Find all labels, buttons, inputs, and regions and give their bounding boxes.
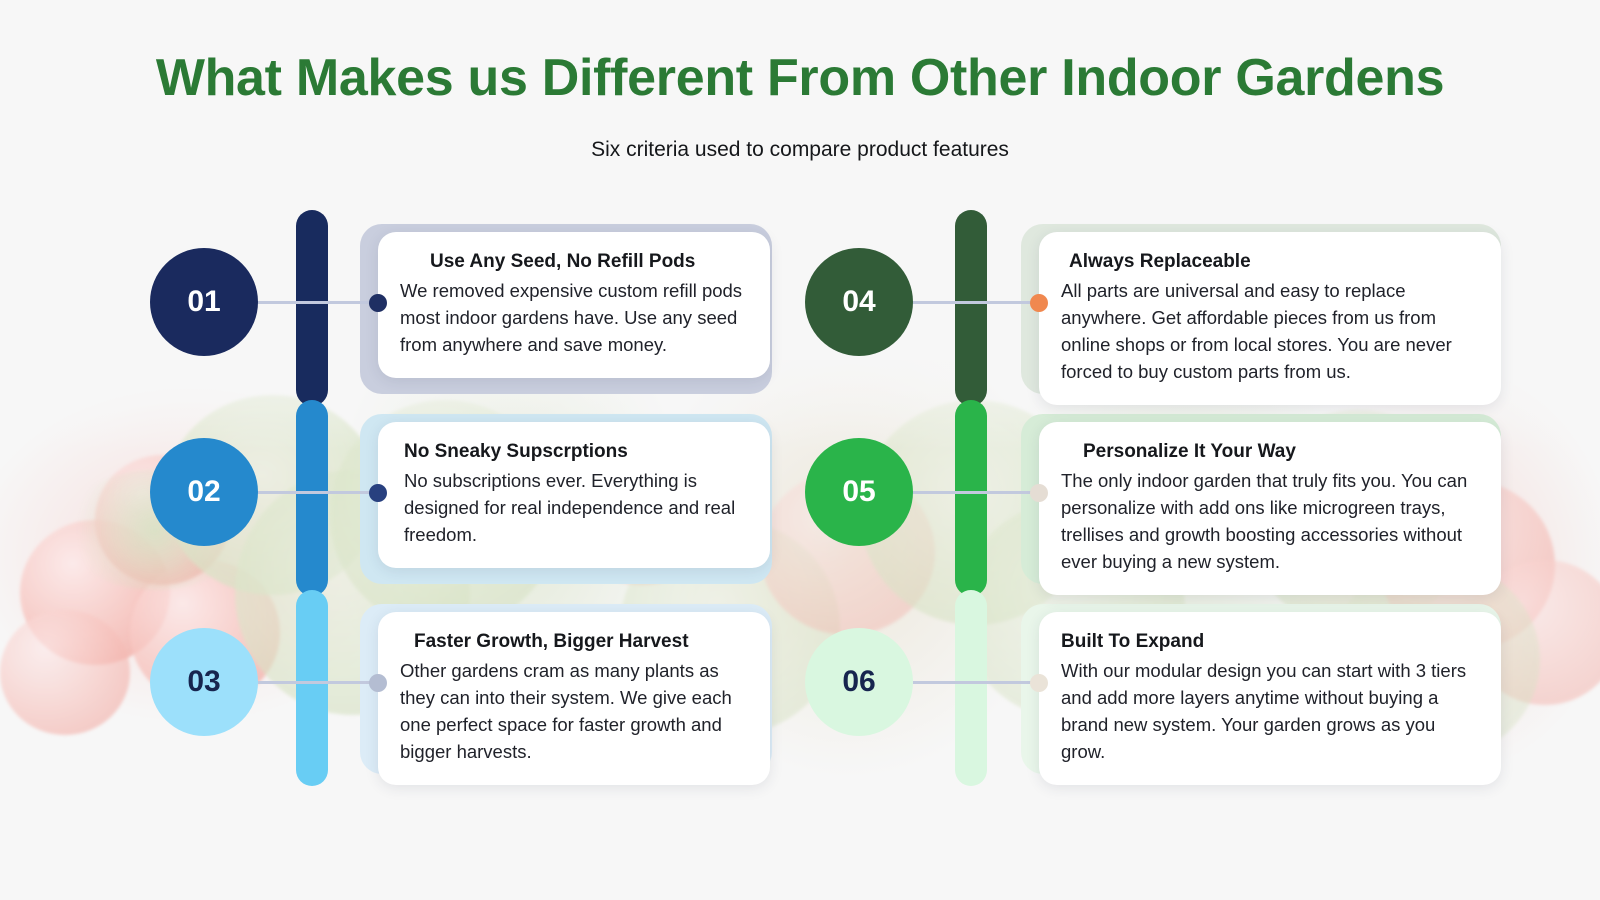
- page-subtitle: Six criteria used to compare product fea…: [0, 108, 1600, 162]
- step-number-01: 01: [187, 285, 220, 319]
- step-number-04: 04: [842, 285, 875, 319]
- feature-card-01[interactable]: Use Any Seed, No Refill Pods We removed …: [378, 232, 770, 378]
- feature-card-title-02: No Sneaky Supscrptions: [400, 440, 748, 464]
- feature-row-06[interactable]: 06 Built To Expand With our modular desi…: [805, 590, 1525, 780]
- connector-line-01: [258, 301, 378, 304]
- connector-dot-02: [369, 484, 387, 502]
- feature-row-03[interactable]: 03 Faster Growth, Bigger Harvest Other g…: [150, 590, 790, 780]
- feature-card-body-05: The only indoor garden that truly fits y…: [1061, 467, 1479, 575]
- connector-line-06: [913, 681, 1039, 684]
- connector-dot-04: [1030, 294, 1048, 312]
- feature-card-title-03: Faster Growth, Bigger Harvest: [400, 630, 748, 654]
- connector-line-02: [258, 491, 378, 494]
- step-circle-01[interactable]: 01: [150, 248, 258, 356]
- background-tomato: [0, 610, 130, 735]
- step-number-03: 03: [187, 665, 220, 699]
- feature-row-04[interactable]: 04 Always Replaceable All parts are univ…: [805, 210, 1525, 400]
- feature-card-body-02: No subscriptions ever. Everything is des…: [400, 467, 748, 548]
- feature-card-02[interactable]: No Sneaky Supscrptions No subscriptions …: [378, 422, 770, 568]
- step-circle-05[interactable]: 05: [805, 438, 913, 546]
- connector-line-04: [913, 301, 1039, 304]
- step-number-06: 06: [842, 665, 875, 699]
- connector-dot-01: [369, 294, 387, 312]
- feature-card-05[interactable]: Personalize It Your Way The only indoor …: [1039, 422, 1501, 595]
- step-circle-06[interactable]: 06: [805, 628, 913, 736]
- feature-card-06[interactable]: Built To Expand With our modular design …: [1039, 612, 1501, 785]
- feature-card-body-04: All parts are universal and easy to repl…: [1061, 277, 1479, 385]
- feature-card-body-03: Other gardens cram as many plants as the…: [400, 657, 748, 765]
- feature-card-body-01: We removed expensive custom refill pods …: [400, 277, 748, 358]
- feature-row-02[interactable]: 02 No Sneaky Supscrptions No subscriptio…: [150, 400, 790, 590]
- connector-dot-06: [1030, 674, 1048, 692]
- connector-line-03: [258, 681, 378, 684]
- step-circle-03[interactable]: 03: [150, 628, 258, 736]
- feature-card-title-01: Use Any Seed, No Refill Pods: [400, 250, 748, 274]
- feature-card-title-04: Always Replaceable: [1061, 250, 1479, 274]
- connector-dot-03: [369, 674, 387, 692]
- feature-card-body-06: With our modular design you can start wi…: [1061, 657, 1479, 765]
- step-circle-02[interactable]: 02: [150, 438, 258, 546]
- connector-line-05: [913, 491, 1039, 494]
- feature-card-title-05: Personalize It Your Way: [1061, 440, 1479, 464]
- page-title: What Makes us Different From Other Indoo…: [0, 0, 1600, 108]
- feature-card-title-06: Built To Expand: [1061, 630, 1479, 654]
- feature-row-01[interactable]: 01 Use Any Seed, No Refill Pods We remov…: [150, 210, 790, 400]
- step-circle-04[interactable]: 04: [805, 248, 913, 356]
- background-fade-bottom: [0, 780, 1600, 900]
- background-tomato: [20, 520, 170, 665]
- feature-card-03[interactable]: Faster Growth, Bigger Harvest Other gard…: [378, 612, 770, 785]
- feature-row-05[interactable]: 05 Personalize It Your Way The only indo…: [805, 400, 1525, 590]
- page-header: What Makes us Different From Other Indoo…: [0, 0, 1600, 162]
- step-number-05: 05: [842, 475, 875, 509]
- step-number-02: 02: [187, 475, 220, 509]
- connector-dot-05: [1030, 484, 1048, 502]
- feature-card-04[interactable]: Always Replaceable All parts are univers…: [1039, 232, 1501, 405]
